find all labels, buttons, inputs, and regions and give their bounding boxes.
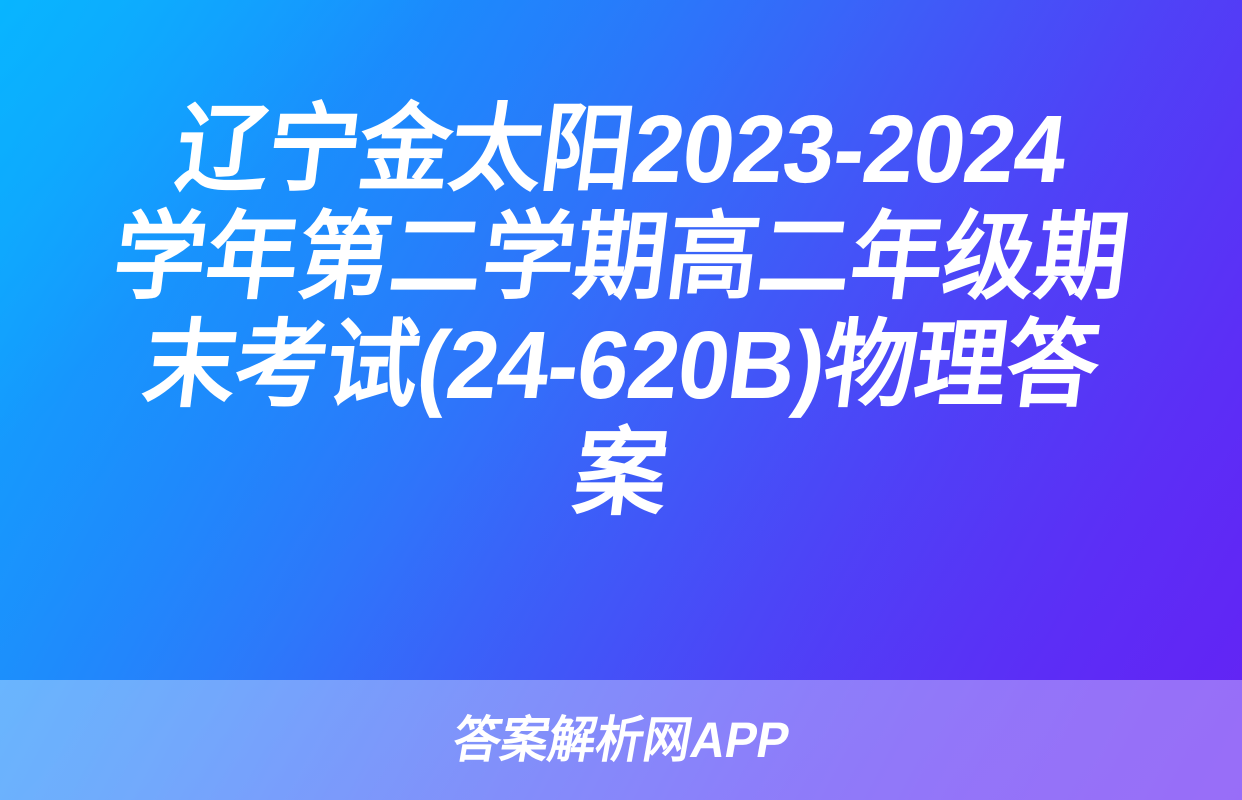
promo-banner: 辽宁金太阳2023-2024 学年第二学期高二年级期 末考试(24-620B)物… (0, 0, 1242, 800)
page-title: 辽宁金太阳2023-2024 学年第二学期高二年级期 末考试(24-620B)物… (0, 96, 1242, 528)
title-line-1: 辽宁金太阳2023-2024 (62, 96, 1179, 204)
footer-brand-bar: 答案解析网APP (0, 680, 1242, 800)
footer-brand-label: 答案解析网APP (449, 713, 794, 767)
title-line-2: 学年第二学期高二年级期 (62, 204, 1179, 312)
title-line-4: 案 (62, 420, 1179, 528)
title-line-3: 末考试(24-620B)物理答 (62, 312, 1179, 420)
